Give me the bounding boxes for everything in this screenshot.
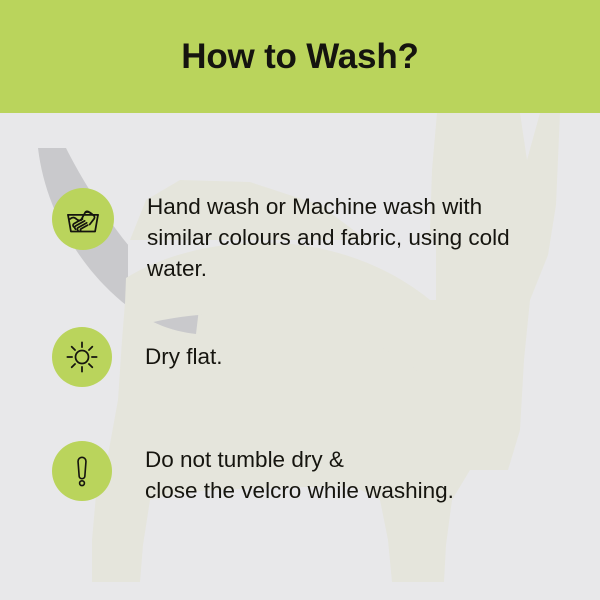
- sun-dry-flat-icon: [63, 338, 101, 376]
- how-to-wash-card: How to Wash?: [0, 0, 600, 600]
- instruction-text: Hand wash or Machine wash with similar c…: [147, 188, 510, 284]
- sun-dry-flat-icon-badge: [52, 327, 112, 387]
- exclamation-warning-icon-badge: [52, 441, 112, 501]
- exclamation-warning-icon: [65, 454, 99, 488]
- instruction-row: Dry flat.: [52, 327, 223, 387]
- instruction-row: Hand wash or Machine wash with similar c…: [52, 188, 510, 284]
- instruction-text: Do not tumble dry & close the velcro whi…: [145, 441, 454, 506]
- instruction-text: Dry flat.: [145, 327, 223, 372]
- page-title: How to Wash?: [0, 0, 600, 113]
- instruction-row: Do not tumble dry & close the velcro whi…: [52, 441, 454, 506]
- hand-wash-icon-badge: [52, 188, 114, 250]
- hand-wash-icon: [63, 199, 103, 239]
